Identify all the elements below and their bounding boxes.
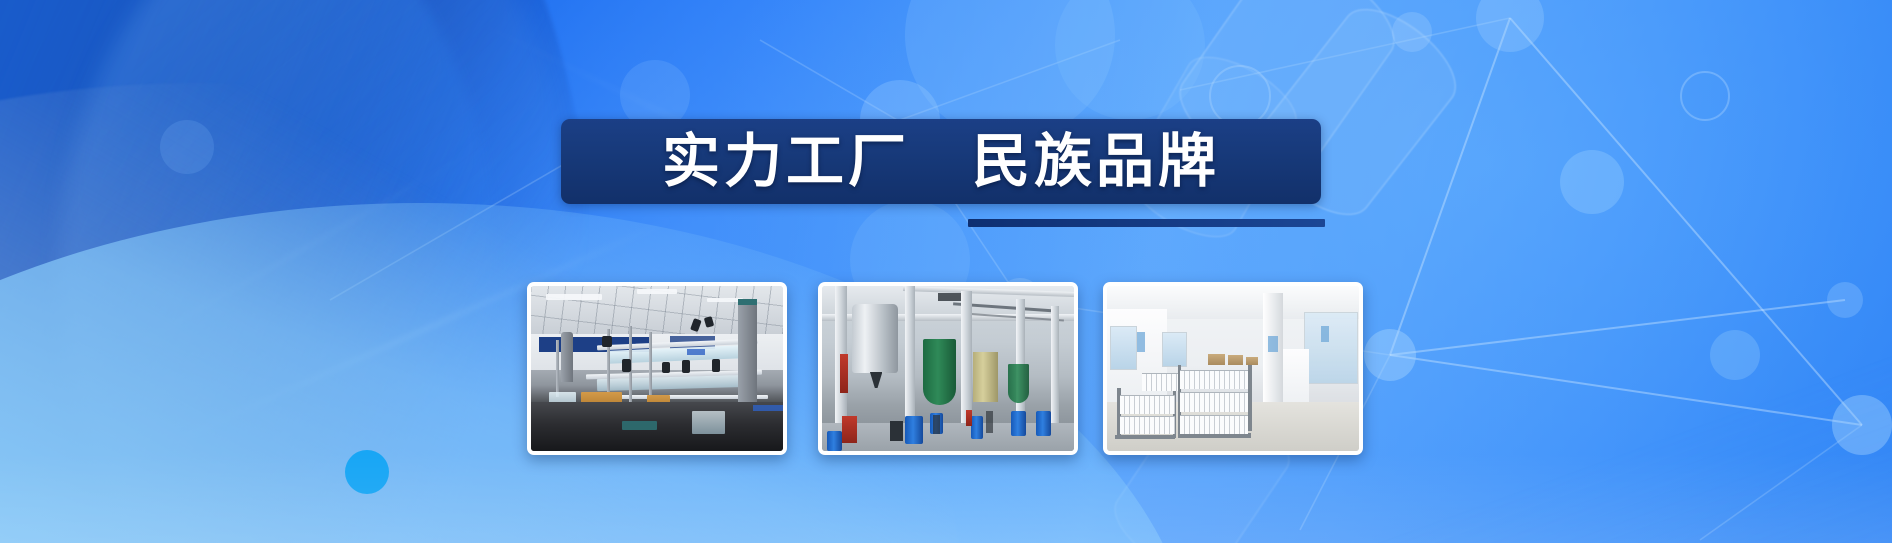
blue-wall-sign [1268,336,1278,353]
bottle-row [1180,392,1248,413]
blue-chemical-drum [1036,411,1051,436]
worker-silhouette [986,411,994,432]
photo-card-warehouse[interactable] [1103,282,1363,455]
bench-top [531,402,783,452]
retort-stand [556,340,559,396]
production-plant-photo [822,286,1074,451]
fire-equipment-box [842,416,857,442]
stand-base [622,421,657,429]
green-process-vessel [923,339,956,405]
red-signage [840,354,849,394]
lab-apparatus [622,359,631,372]
photo-card-production-plant[interactable] [818,282,1078,455]
ceiling-lamp [637,289,677,294]
lab-apparatus [602,336,612,348]
warehouse-photo [1107,286,1359,451]
window [1110,326,1137,371]
carton-box [1228,355,1243,365]
headline-underline-rule [968,219,1325,227]
background-decoration [0,0,1892,543]
accent-dot [345,450,389,494]
overhead-duct [938,293,963,301]
worker-silhouette [890,421,903,441]
bokeh-circle [160,120,214,174]
light-beam [118,145,483,357]
red-marker [966,410,972,427]
carton-box [1208,354,1226,366]
blue-label [687,349,705,356]
bokeh-circle [1560,150,1624,214]
bottle-row [1120,416,1175,434]
bottle-row [1180,370,1248,389]
stainless-reaction-tank [852,304,897,373]
bokeh-circle [1392,12,1432,52]
laboratory-photo [531,286,783,451]
carton-box [1246,357,1259,365]
lab-apparatus [712,359,720,372]
blue-counter-edge [753,405,783,412]
mid-blue-swirl [0,0,564,543]
page-title: 实力工厂 民族品牌 [662,133,1220,191]
structural-column [1051,306,1059,438]
blue-chemical-drum [827,431,842,451]
rack-upright [1248,365,1252,431]
blue-chemical-drum [1011,411,1026,436]
lab-apparatus [662,362,670,374]
blue-wall-sign [1321,326,1329,343]
support-column [561,332,572,382]
blue-chemical-drum [971,416,984,439]
lab-apparatus [682,360,690,373]
bottle-row [1180,415,1248,434]
pillar [1263,293,1283,418]
bottle-row [1142,373,1177,391]
bottom-fade [0,453,1892,543]
worker-silhouette [933,415,941,435]
green-process-vessel [1008,364,1028,404]
glass-partition [1304,312,1359,383]
light-blue-swirl [60,0,580,543]
blue-wall-sign [1137,332,1145,352]
deep-blue-swirl [0,0,735,543]
window [1162,332,1187,367]
ceiling-lamp [546,294,601,300]
promo-banner: 实力工厂 民族品牌 [0,0,1892,543]
molecule-network-graphic [0,0,1892,543]
tank-outlet [870,372,883,389]
bottle-row [1120,395,1175,414]
process-equipment [973,352,998,402]
bokeh-circle [1710,330,1760,380]
bokeh-circle [1055,0,1205,120]
photo-card-laboratory[interactable] [527,282,787,455]
rack-base [1115,435,1175,440]
blue-chemical-drum [905,416,923,444]
column-cap [738,299,757,305]
glass-vessel [692,411,725,434]
headline-plaque: 实力工厂 民族品牌 [561,119,1321,204]
